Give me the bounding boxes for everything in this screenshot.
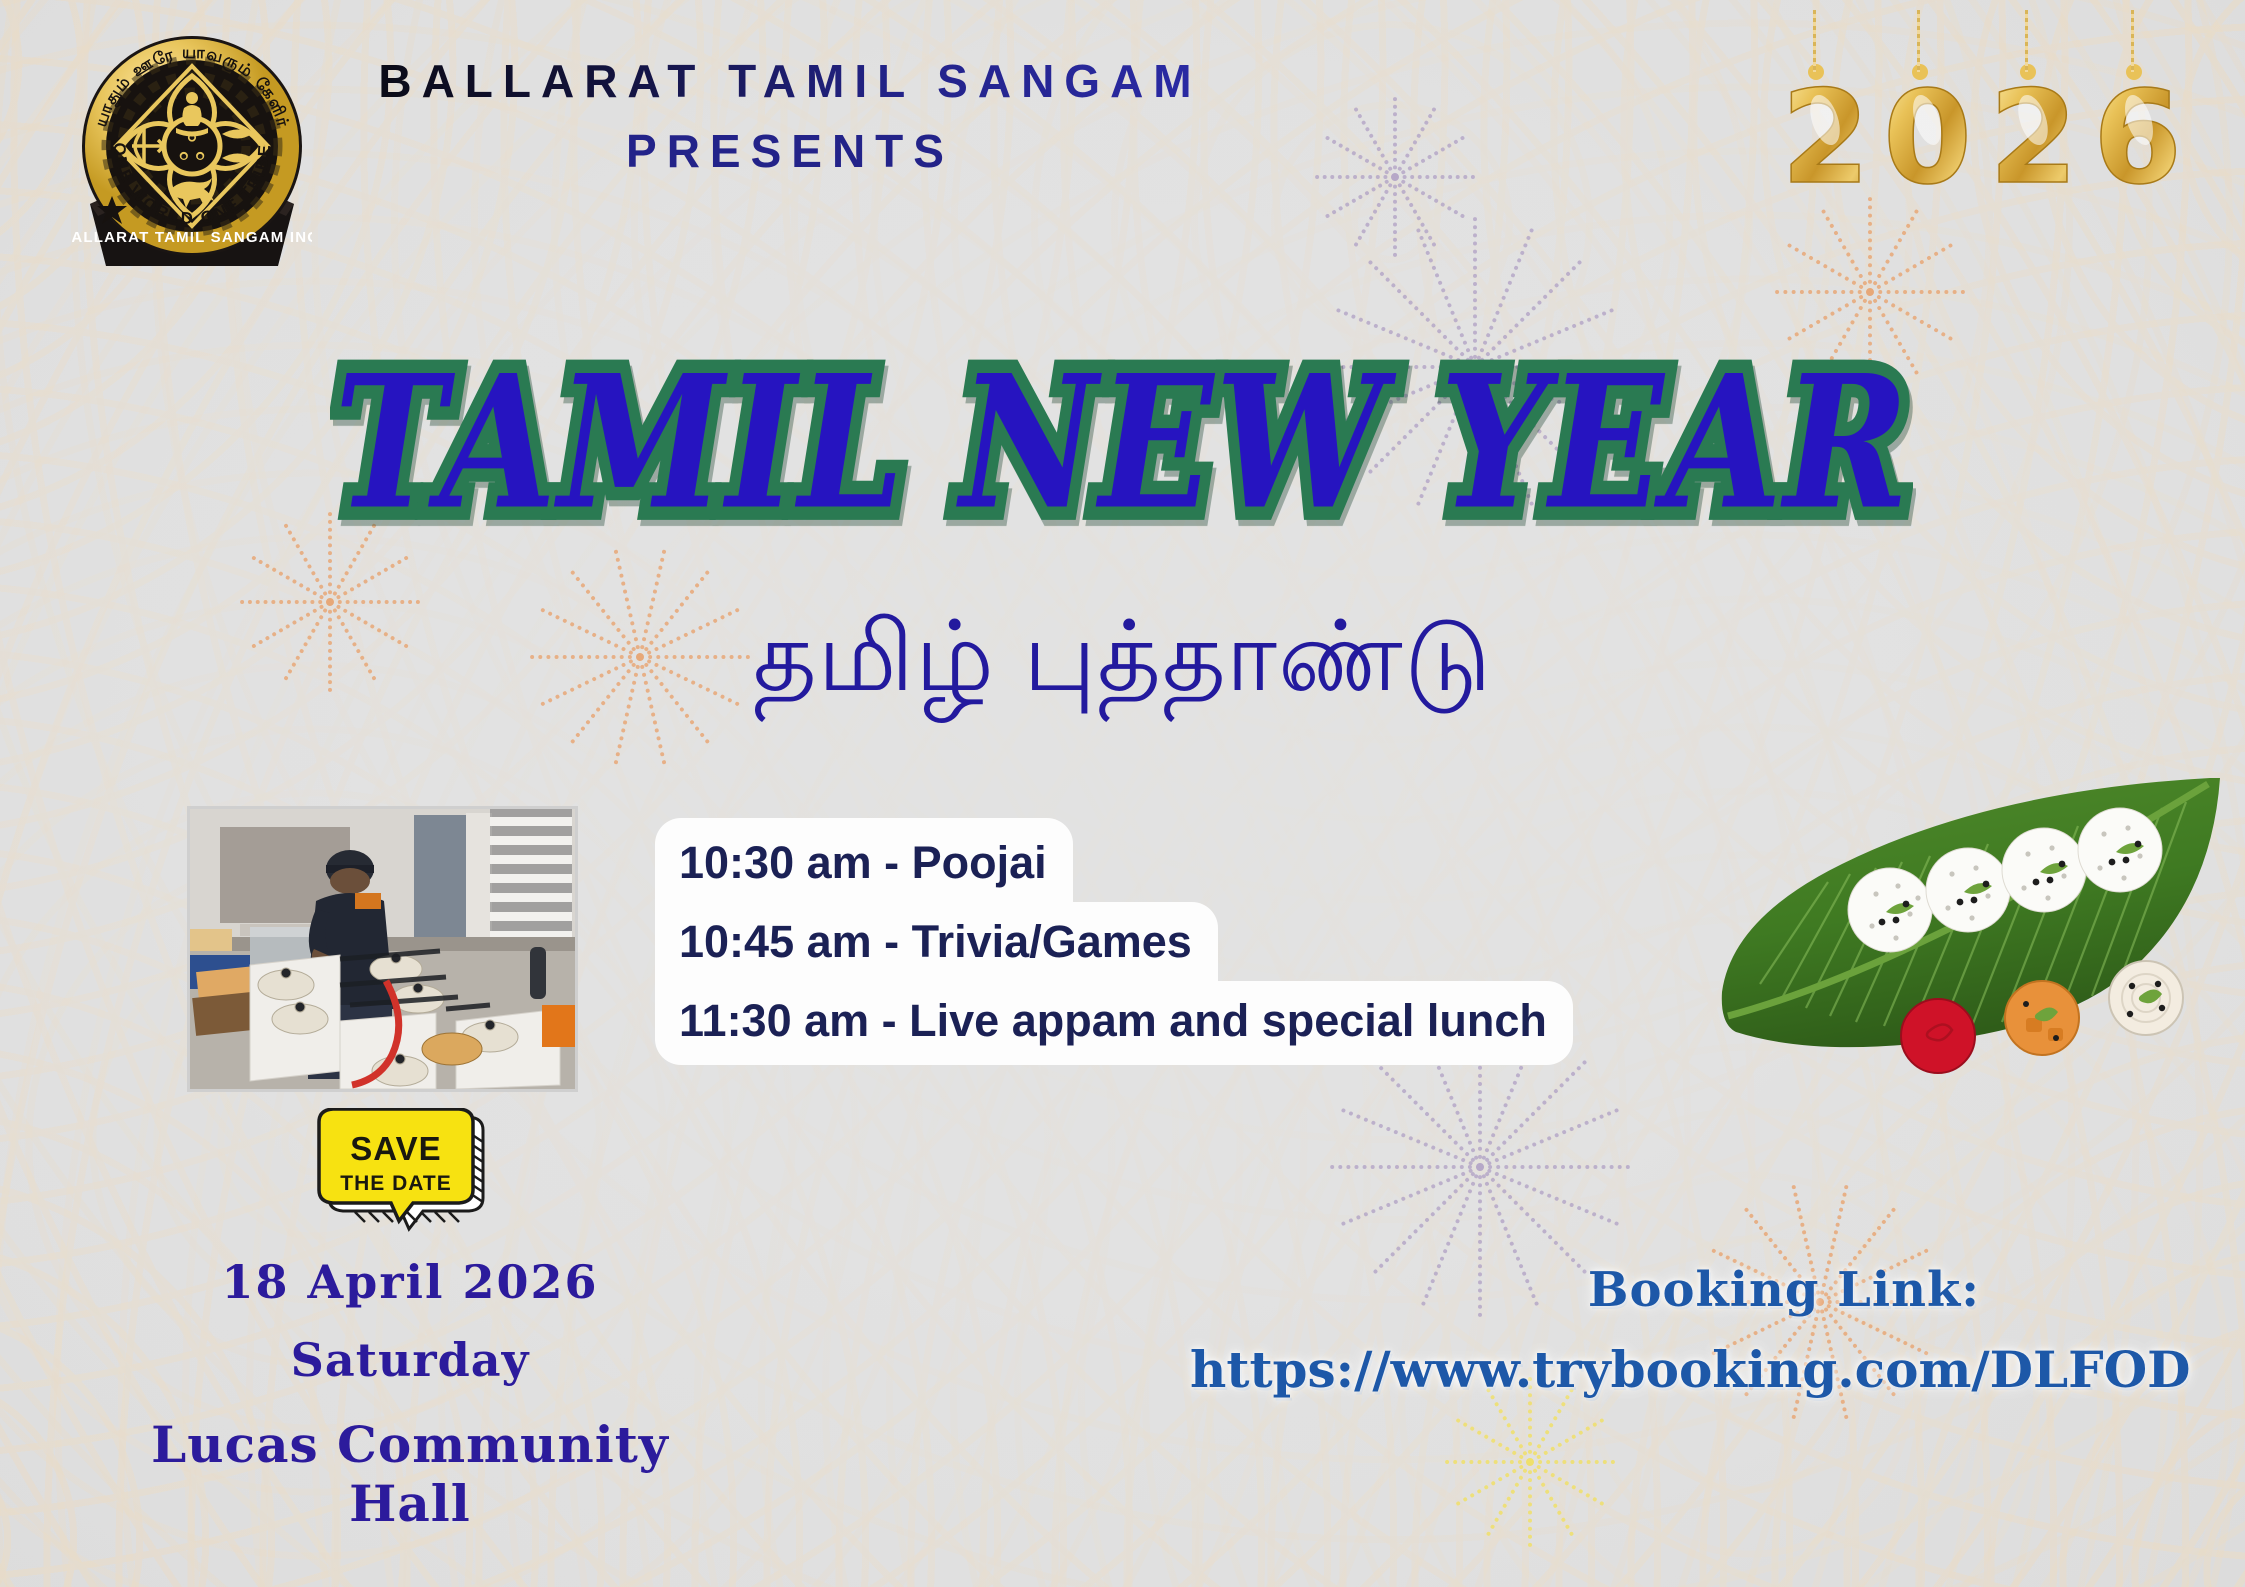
year-label: 2 0 2 6 [1781,64,2182,210]
presents-label: PRESENTS [350,124,1230,178]
schedule-item-2: 10:45 am - Trivia/Games [655,902,1218,981]
page-title: TAMIL NEW YEAR [334,336,1910,551]
main-title-wrap: TAMIL NEW YEAR [0,355,2245,531]
save-the-date-badge: SAVE THE DATE [303,1108,499,1238]
header-block: BALLARAT TAMIL SANGAM PRESENTS [350,54,1230,178]
schedule-row: 11:30 am - Live appam and special lunch [655,981,1715,1065]
event-poster: ஃ [0,0,2245,1587]
event-date: 18 April 2026 [100,1255,720,1309]
tamil-subtitle: தமிழ் புத்தாண்டு [0,600,2245,727]
event-venue: Lucas Community Hall [100,1415,720,1533]
save-the-date-line2: THE DATE [340,1172,451,1195]
event-details: 18 April 2026 Saturday Lucas Community H… [100,1255,720,1533]
booking-label: Booking Link: [1190,1262,2190,1318]
year-balloons: 2 0 2 6 [1775,10,2195,210]
banana-leaf-illustration [1700,770,2220,1100]
save-the-date-line1: SAVE [350,1130,441,1167]
schedule-item-1: 10:30 am - Poojai [655,818,1073,902]
schedule-item-3: 11:30 am - Live appam and special lunch [655,981,1573,1065]
booking-block: Booking Link: https://www.trybooking.com… [1190,1262,2190,1399]
schedule-row: 10:45 am - Trivia/Games [655,902,1715,981]
appam-cooking-photo [187,806,578,1092]
organisation-logo: ஃ [72,18,312,268]
chutney-red [1901,999,1975,1073]
event-day: Saturday [100,1333,720,1387]
organisation-name: BALLARAT TAMIL SANGAM [350,54,1230,108]
schedule-row: 10:30 am - Poojai [655,818,1715,902]
schedule-list: 10:30 am - Poojai 10:45 am - Trivia/Game… [655,818,1715,1065]
logo-ribbon-text: BALLARAT TAMIL SANGAM INC. [72,229,312,246]
booking-link[interactable]: https://www.trybooking.com/DLFOD [1190,1340,2190,1399]
